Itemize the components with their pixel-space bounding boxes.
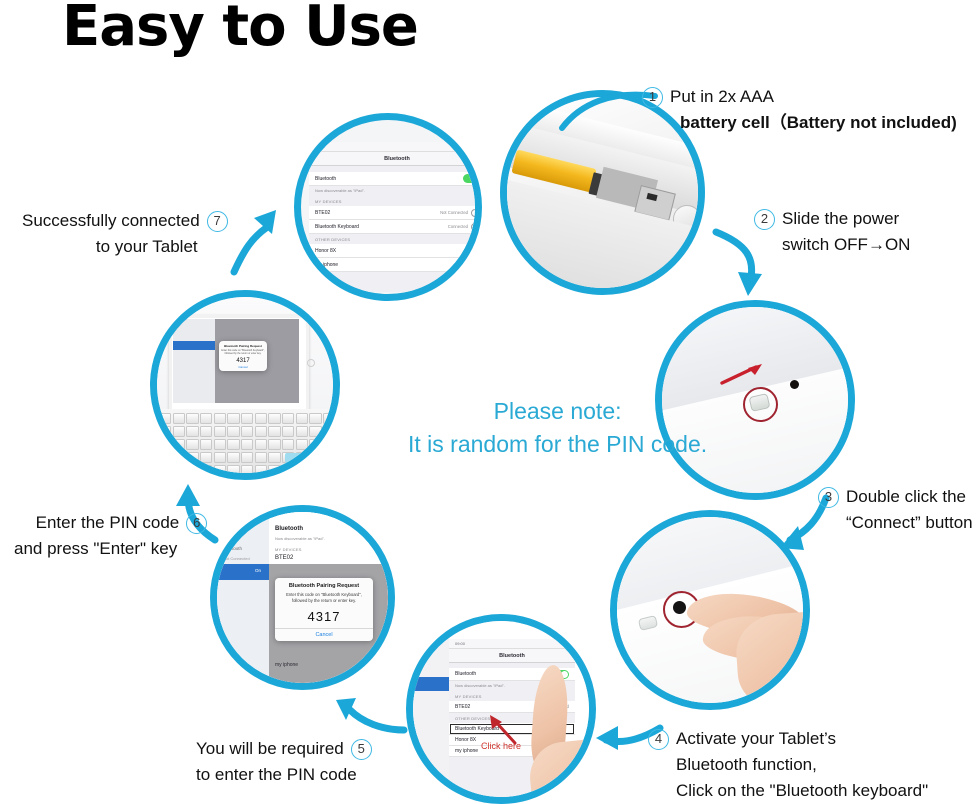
dialog-body: Enter this code on "Bluetooth Keyboard",… <box>279 592 369 604</box>
step-5-line-1: You will be required <box>196 736 344 762</box>
key[interactable] <box>186 465 198 473</box>
slide-direction-arrow-icon <box>720 361 766 387</box>
key[interactable] <box>227 426 239 437</box>
bluetooth-toggle-label: Bluetooth <box>455 671 476 677</box>
step-6-line-1-row: Enter the PIN code 6 <box>14 510 207 536</box>
key[interactable] <box>200 465 212 473</box>
sidebar-row-label: Bluetooth <box>223 546 242 551</box>
device-name: Honor 8X <box>315 248 336 254</box>
step-badge-6: 6 <box>186 513 207 534</box>
arrow-step-5-head <box>336 698 356 720</box>
key[interactable] <box>268 465 280 473</box>
step-4-line-2: Bluetooth function, <box>676 752 817 778</box>
infographic-page: Easy to Use 09:00 99% Bluetooth Bluetoot… <box>0 0 980 804</box>
dialog-body-mini: Enter this code on "Bluetooth Keyboard",… <box>221 349 265 356</box>
key[interactable] <box>255 465 267 473</box>
step-2-text: 2 Slide the power switch OFF→ON <box>754 206 910 258</box>
key[interactable] <box>214 439 226 450</box>
key[interactable] <box>241 465 253 473</box>
key[interactable] <box>173 439 185 450</box>
step-6-text: Enter the PIN code 6 and press "Enter" k… <box>14 510 207 562</box>
tablet-home-button <box>307 359 315 367</box>
step-2-line-1-row: 2 Slide the power <box>754 206 910 232</box>
step-6-line-2-row: and press "Enter" key <box>14 536 207 562</box>
dialog-divider <box>275 628 373 629</box>
bluetooth-pairing-dialog: Bluetooth Pairing Request Enter this cod… <box>275 578 373 641</box>
ios-status-bar: 09:00 <box>449 639 575 649</box>
key[interactable] <box>323 413 333 424</box>
center-note-line-2: It is random for the PIN code. <box>408 428 707 461</box>
arrow-step-2-head <box>738 272 762 296</box>
settings-sidebar-selected-row <box>217 564 269 580</box>
key[interactable] <box>159 413 171 424</box>
key[interactable] <box>186 439 198 450</box>
step-badge-2: 2 <box>754 209 775 230</box>
step-7-line-2: to your Tablet <box>96 234 198 260</box>
tablet-sidebar <box>173 319 215 403</box>
device-row[interactable]: Bluetooth Keyboard Connected <box>309 220 475 234</box>
key[interactable] <box>268 426 280 437</box>
step-5-line-1-row: You will be required 5 <box>196 736 387 762</box>
page-title: Easy to Use <box>62 0 418 59</box>
key[interactable] <box>241 413 253 424</box>
step-1-line-2: battery cell（Battery not included) <box>680 110 957 136</box>
step-4-line-2-row: Bluetooth function, <box>648 752 928 778</box>
settings-sidebar <box>217 512 269 683</box>
click-here-annotation: Click here <box>481 741 521 751</box>
arrow-step-7-head <box>254 210 276 234</box>
key[interactable] <box>214 465 226 473</box>
step-1-text: 1 Put in 2x AAA battery cell（Battery not… <box>642 84 957 136</box>
key[interactable] <box>268 413 280 424</box>
sidebar-row-status: Not Connected <box>223 556 250 561</box>
key[interactable] <box>323 439 333 450</box>
bluetooth-toggle-row[interactable]: Bluetooth <box>309 172 475 186</box>
device-status-wrap: Not Connected <box>440 209 475 217</box>
keyboard-typing-photo-inner: Bluetooth Pairing Request Enter this cod… <box>157 297 333 473</box>
key[interactable] <box>282 413 294 424</box>
step-1-line-1: Put in 2x AAA <box>670 84 774 110</box>
bluetooth-toggle-switch[interactable] <box>463 174 475 183</box>
info-icon[interactable] <box>471 223 475 231</box>
key[interactable] <box>159 426 171 437</box>
connect-button-photo-inner <box>617 517 803 703</box>
center-note: Please note: It is random for the PIN co… <box>408 395 707 461</box>
key[interactable] <box>296 413 308 424</box>
key[interactable] <box>323 426 333 437</box>
step-6-line-2: and press "Enter" key <box>14 536 177 562</box>
step-badge-4: 4 <box>648 729 669 750</box>
tablet-sidebar-selected <box>173 341 215 350</box>
pairing-pin-mini: 4317 <box>221 358 265 364</box>
pairing-dialog-mini: Bluetooth Pairing Request Enter this cod… <box>219 341 267 371</box>
step-7-text: Successfully connected 7 to your Tablet <box>22 208 228 260</box>
step-2-line-2-row: switch OFF→ON <box>754 232 910 258</box>
tablet-list-photo-inner: 09:00 Bluetooth Bluetooth Now discoverab… <box>413 621 589 797</box>
group-header-other-devices: OTHER DEVICES <box>309 234 475 244</box>
step-4-line-1: Activate your Tablet’s <box>676 726 836 752</box>
ios-status-bar: 09:00 99% <box>309 142 475 152</box>
key[interactable] <box>255 413 267 424</box>
other-device-row[interactable]: Honor 8X <box>309 244 475 258</box>
photo-tablet-bluetooth-list: 09:00 Bluetooth Bluetooth Now discoverab… <box>406 614 596 804</box>
pairing-pin-code: 4317 <box>279 609 369 624</box>
step-3-line-2-row: “Connect” button <box>818 510 973 536</box>
ios-nav-title: Bluetooth <box>309 152 475 166</box>
arrow-step-6-head <box>176 484 200 506</box>
device-status-wrap: Connected <box>448 223 475 231</box>
discoverable-note: Now discoverable as "iPad". <box>269 534 388 544</box>
step-3-text: 3 Double click the “Connect” button <box>818 484 973 536</box>
step-badge-3: 3 <box>818 487 839 508</box>
key[interactable] <box>282 439 294 450</box>
step-badge-1: 1 <box>642 87 663 108</box>
key[interactable] <box>159 465 171 473</box>
arrow-step-4-head <box>596 726 618 750</box>
bluetooth-toggle-label: Bluetooth <box>315 176 336 182</box>
key[interactable] <box>214 413 226 424</box>
step-4-line-3: Click on the "Bluetooth keyboard" <box>676 778 928 804</box>
step-7-line-1-row: Successfully connected 7 <box>22 208 228 234</box>
step-badge-7: 7 <box>207 211 228 232</box>
step-4-text: 4 Activate your Tablet’s Bluetooth funct… <box>648 726 928 804</box>
key[interactable] <box>227 452 239 463</box>
key[interactable] <box>200 452 212 463</box>
key[interactable] <box>200 426 212 437</box>
indicator-led-dot <box>790 380 799 389</box>
key[interactable] <box>255 439 267 450</box>
key[interactable] <box>241 452 253 463</box>
key[interactable] <box>186 413 198 424</box>
nav-title: Bluetooth <box>269 524 388 534</box>
key[interactable] <box>173 413 185 424</box>
device-name: BTE02 <box>315 210 330 216</box>
key[interactable] <box>214 452 226 463</box>
step-3-line-2: “Connect” button <box>846 510 973 536</box>
step-1-line-1-row: 1 Put in 2x AAA <box>642 84 957 110</box>
key[interactable] <box>173 465 185 473</box>
photo-pairing-request: Bluetooth Not Connected On Bluetooth Now… <box>210 505 395 690</box>
key[interactable] <box>241 426 253 437</box>
status-battery: 99% <box>471 144 475 149</box>
arrow-step-5 <box>350 710 404 730</box>
step-4-line-1-row: 4 Activate your Tablet’s <box>648 726 928 752</box>
key[interactable] <box>255 452 267 463</box>
sidebar-row-on: On <box>255 568 261 573</box>
status-time: 09:00 <box>455 641 465 646</box>
device-name: BTE02 <box>455 704 470 710</box>
key[interactable] <box>173 452 185 463</box>
center-note-line-1: Please note: <box>408 395 707 428</box>
device-status: Not Connected <box>440 210 468 215</box>
device-status: Connected <box>448 224 468 229</box>
key[interactable] <box>268 452 280 463</box>
key[interactable] <box>200 413 212 424</box>
dialog-title-mini: Bluetooth Pairing Request <box>221 344 265 348</box>
key[interactable] <box>241 439 253 450</box>
key[interactable] <box>268 439 280 450</box>
power-switch-highlight-ring <box>743 387 778 422</box>
device-row[interactable]: BTE02 Not Connected <box>309 206 475 220</box>
arrow-step-2 <box>716 232 752 282</box>
step-5-line-2: to enter the PIN code <box>196 762 357 788</box>
info-icon[interactable] <box>471 209 475 217</box>
step-4-line-3-row: Click on the "Bluetooth keyboard" <box>648 778 928 804</box>
key[interactable] <box>255 426 267 437</box>
group-header-my-devices: MY DEVICES <box>269 544 388 554</box>
step-7-line-1: Successfully connected <box>22 208 200 234</box>
discoverable-note: Now discoverable as "iPad". <box>309 186 475 196</box>
key[interactable] <box>159 439 171 450</box>
step-1-line-2-row: battery cell（Battery not included) <box>642 110 957 136</box>
step-2-line-2: switch OFF→ON <box>782 232 910 258</box>
status-time: 09:00 <box>315 144 325 149</box>
step-5-text: You will be required 5 to enter the PIN … <box>196 736 387 788</box>
step-5-line-2-row: to enter the PIN code <box>196 762 387 788</box>
step-badge-5: 5 <box>351 739 372 760</box>
pairing-photo-inner: Bluetooth Not Connected On Bluetooth Now… <box>217 512 388 683</box>
device-name: my iphone <box>455 748 478 754</box>
key[interactable] <box>200 439 212 450</box>
key[interactable] <box>214 426 226 437</box>
step-3-line-1: Double click the <box>846 484 966 510</box>
step-7-line-2-row: to your Tablet <box>22 234 228 260</box>
key[interactable] <box>282 426 294 437</box>
step-2-line-1: Slide the power <box>782 206 899 232</box>
other-device-row[interactable]: my iphone <box>309 258 475 272</box>
ios-bluetooth-settings-screen: 09:00 99% Bluetooth Bluetooth Now discov… <box>309 142 475 292</box>
device-name: Honor 8X <box>455 737 476 743</box>
key[interactable] <box>186 452 198 463</box>
arrow-step-7 <box>234 228 266 272</box>
key[interactable] <box>309 426 321 437</box>
key[interactable] <box>309 413 321 424</box>
key[interactable] <box>173 426 185 437</box>
key[interactable] <box>296 426 308 437</box>
device-name: Bluetooth Keyboard <box>315 224 359 230</box>
photo-connect-button <box>610 510 810 710</box>
device-name: my iphone <box>315 262 338 268</box>
step-6-line-1: Enter the PIN code <box>36 510 180 536</box>
key[interactable] <box>159 452 171 463</box>
dialog-cancel-button[interactable]: Cancel <box>279 632 369 638</box>
dialog-title: Bluetooth Pairing Request <box>279 583 369 589</box>
other-device-label: my iphone <box>275 662 298 668</box>
key[interactable] <box>227 413 239 424</box>
photo-keyboard-typing: Bluetooth Pairing Request Enter this cod… <box>150 290 340 480</box>
photo-bluetooth-settings: 09:00 99% Bluetooth Bluetooth Now discov… <box>294 113 482 301</box>
ios-nav-title: Bluetooth <box>449 649 575 663</box>
step-3-line-1-row: 3 Double click the <box>818 484 973 510</box>
key[interactable] <box>227 439 239 450</box>
key[interactable] <box>186 426 198 437</box>
key[interactable] <box>227 465 239 473</box>
dialog-cancel-mini[interactable]: Cancel <box>221 365 265 369</box>
group-header-my-devices: MY DEVICES <box>309 196 475 206</box>
